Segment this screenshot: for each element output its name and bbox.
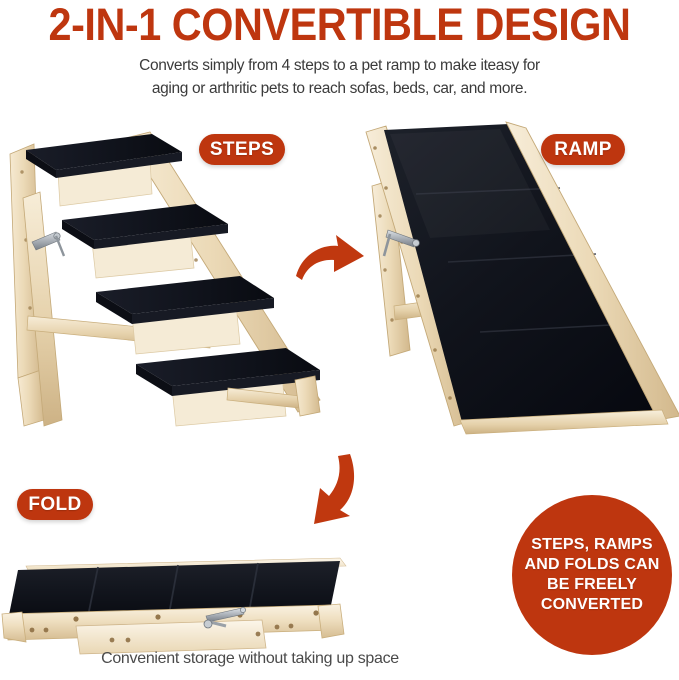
callout-line-4: CONVERTED — [541, 595, 643, 615]
product-image-folded — [0, 530, 480, 650]
arrow-ramp-to-fold — [288, 452, 370, 528]
badge-ramp: RAMP — [541, 134, 625, 165]
subtitle-line-2: aging or arthritic pets to reach sofas, … — [50, 77, 629, 100]
product-image-steps — [0, 120, 330, 450]
page-subtitle: Converts simply from 4 steps to a pet ra… — [50, 54, 629, 100]
footer-caption: Convenient storage without taking up spa… — [0, 650, 500, 668]
circle-callout-badge: STEPS, RAMPS AND FOLDS CAN BE FREELY CON… — [512, 495, 672, 655]
callout-line-2: AND FOLDS CAN — [524, 555, 659, 575]
folded-leg-board — [76, 620, 266, 654]
badge-steps: STEPS — [199, 134, 285, 165]
badge-fold: FOLD — [17, 489, 93, 520]
page-title: 2-IN-1 CONVERTIBLE DESIGN — [27, 2, 652, 48]
callout-line-1: STEPS, RAMPS — [531, 535, 653, 555]
infographic-page: 2-IN-1 CONVERTIBLE DESIGN Converts simpl… — [0, 0, 679, 680]
callout-line-3: BE FREELY — [547, 575, 637, 595]
product-image-ramp — [350, 120, 679, 450]
ramp-deck — [384, 124, 664, 422]
subtitle-line-1: Converts simply from 4 steps to a pet ra… — [50, 54, 629, 77]
